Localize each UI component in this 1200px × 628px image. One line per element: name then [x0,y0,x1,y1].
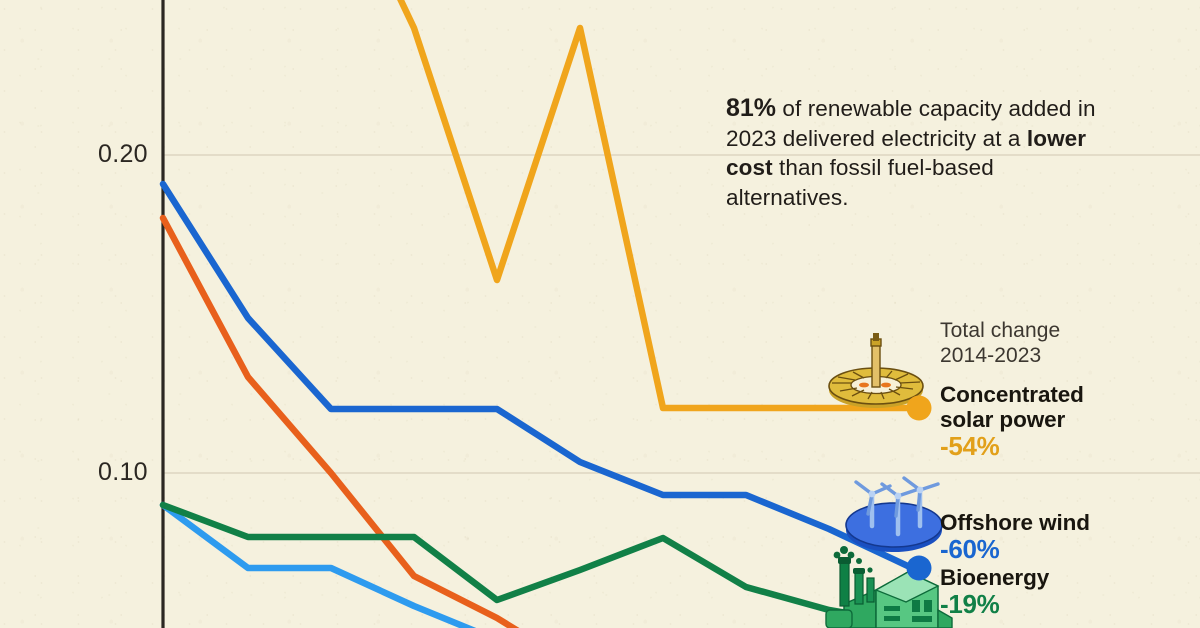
legend-label-csp-line1: Concentrated [940,382,1084,407]
legend-delta-offshore-wind: -60% [940,535,1090,564]
series-line-light-blue [163,505,912,628]
legend-label-csp-line2: solar power [940,407,1084,432]
callout-highlight-percent: 81% [726,94,776,122]
legend-delta-bioenergy: -19% [940,590,1049,619]
legend-item-concentrated-solar-power[interactable]: Concentrated solar power -54% [940,382,1084,461]
legend-total-change-label: Total change [940,318,1200,343]
line-chart: 0.20 0.10 81% of renewable capacity adde… [0,0,1200,628]
legend-year-range-label: 2014-2023 [940,343,1200,368]
legend-label-bioenergy: Bioenergy [940,565,1049,590]
legend-item-offshore-wind[interactable]: Offshore wind -60% [940,510,1090,564]
series-endpoint-dot-csp [907,396,932,421]
legend-header: Total change 2014-2023 [940,318,1200,368]
offshore-wind-icon [846,478,942,552]
series-line-offshore-wind [163,184,912,568]
y-axis-tick-0.10: 0.10 [98,458,148,487]
series-line-bioenergy [163,505,912,624]
legend-item-bioenergy[interactable]: Bioenergy -19% [940,565,1049,619]
callout-annotation: 81% of renewable capacity added in 2023 … [726,94,1098,212]
legend-label-offshore-wind: Offshore wind [940,510,1090,535]
legend-delta-csp: -54% [940,432,1084,461]
y-axis-tick-0.20: 0.20 [98,140,148,169]
concentrated-solar-power-icon [829,333,923,408]
series-endpoint-dot-offshore-wind [907,556,932,581]
